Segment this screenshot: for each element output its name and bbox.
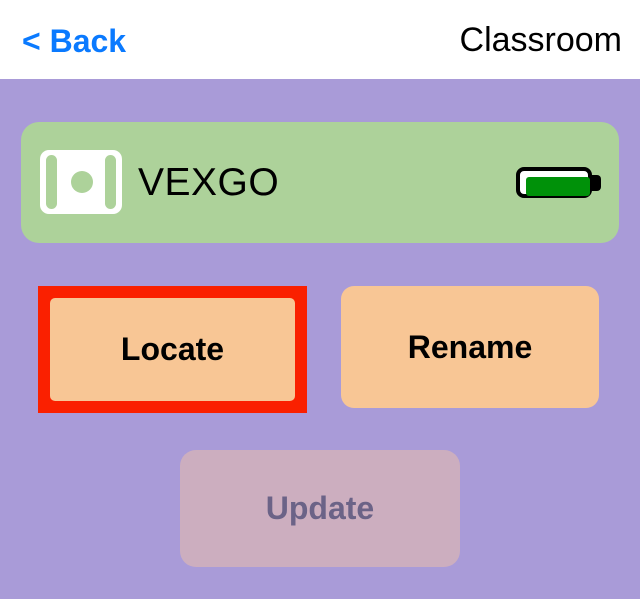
robot-sensor-shape: [71, 171, 93, 193]
locate-button[interactable]: Locate: [50, 298, 295, 401]
device-name-label: VEXGO: [138, 162, 279, 204]
main-content: VEXGO Locate Rename Update: [0, 79, 640, 599]
back-button[interactable]: < Back: [22, 22, 126, 60]
update-button: Update: [180, 450, 460, 567]
battery-shell-shape: [516, 167, 592, 198]
robot-right-wheel-shape: [105, 155, 116, 209]
robot-left-wheel-shape: [46, 155, 57, 209]
battery-cap-shape: [591, 175, 601, 191]
battery-full-icon: [516, 167, 602, 198]
vex-go-robot-icon: [40, 150, 122, 214]
device-card[interactable]: VEXGO: [21, 122, 619, 243]
app-header: < Back Classroom: [0, 0, 640, 79]
battery-fill-shape: [526, 177, 590, 196]
page-title: Classroom: [460, 20, 622, 60]
locate-button-selection-highlight: Locate: [38, 286, 307, 413]
rename-button[interactable]: Rename: [341, 286, 599, 408]
